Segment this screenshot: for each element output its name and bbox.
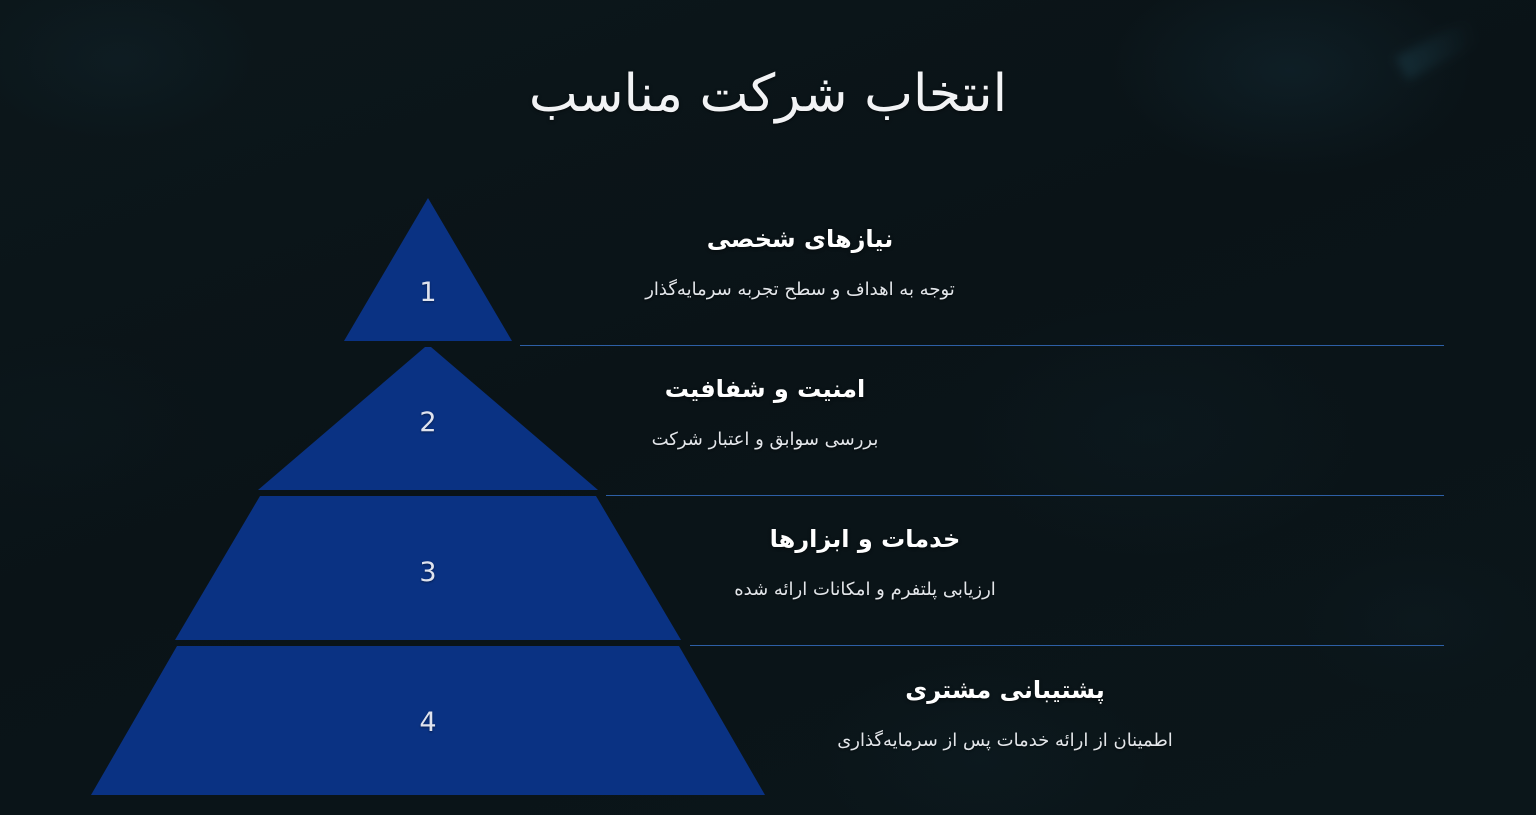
page-title: انتخاب شرکت مناسب: [0, 62, 1536, 127]
pyramid-tier-2-number: 2: [398, 407, 458, 438]
level-1-heading: نیازهای شخصی: [560, 224, 1040, 255]
divider-line-3: [690, 645, 1444, 646]
pyramid-tier-1-number: 1: [398, 277, 458, 308]
level-2-subtitle: بررسی سوابق و اعتبار شرکت: [525, 427, 1005, 453]
pyramid-tier-4-number: 4: [398, 707, 458, 738]
divider-line-1: [520, 345, 1444, 346]
level-3-subtitle: ارزیابی پلتفرم و امکانات ارائه شده: [625, 577, 1105, 603]
level-3-heading: خدمات و ابزارها: [625, 524, 1105, 555]
pyramid-level-1-text: نیازهای شخصی توجه به اهداف و سطح تجربه س…: [560, 224, 1040, 303]
pyramid-level-4-text: پشتیبانی مشتری اطمینان از ارائه خدمات پس…: [765, 675, 1245, 754]
level-4-subtitle: اطمینان از ارائه خدمات پس از سرمایه‌گذار…: [765, 728, 1245, 754]
pyramid-tier-3-number: 3: [398, 557, 458, 588]
level-4-heading: پشتیبانی مشتری: [765, 675, 1245, 706]
pyramid-tier-1-shape: [344, 198, 512, 341]
pyramid-level-3-text: خدمات و ابزارها ارزیابی پلتفرم و امکانات…: [625, 524, 1105, 603]
level-1-subtitle: توجه به اهداف و سطح تجربه سرمایه‌گذار: [560, 277, 1040, 303]
pyramid-level-2-text: امنیت و شفافیت بررسی سوابق و اعتبار شرکت: [525, 374, 1005, 453]
divider-line-2: [606, 495, 1444, 496]
level-2-heading: امنیت و شفافیت: [525, 374, 1005, 405]
